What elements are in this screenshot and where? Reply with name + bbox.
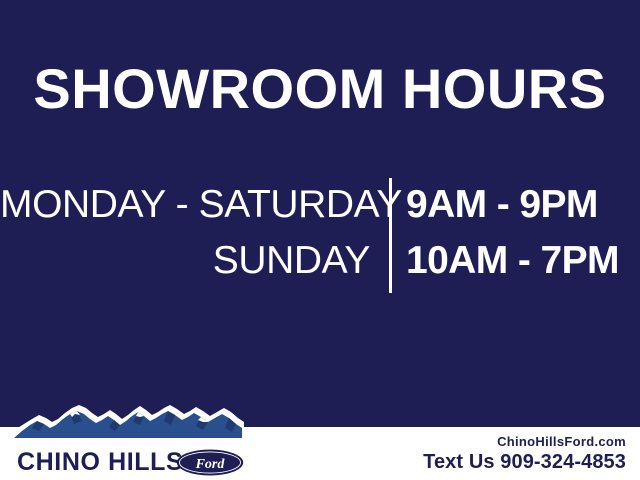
phone-text[interactable]: Text Us 909-324-4853 <box>423 450 626 474</box>
hours-row-time: 9AM - 9PM <box>406 182 638 228</box>
website-text[interactable]: ChinoHillsFord.com <box>423 433 626 450</box>
hours-row: MONDAY - SATURDAY 9AM - 9PM <box>0 182 640 238</box>
hours-row-days: SUNDAY <box>0 238 370 284</box>
hours-row-days: MONDAY - SATURDAY <box>0 182 370 228</box>
hours-table: MONDAY - SATURDAY 9AM - 9PM SUNDAY 10AM … <box>0 178 640 296</box>
page-title-text: SHOWROOM HOURS <box>33 58 606 120</box>
hours-row: SUNDAY 10AM - 7PM <box>0 238 640 294</box>
page-title: SHOWROOM HOURS <box>0 58 640 120</box>
ford-wordmark: Ford <box>195 457 226 472</box>
ford-oval-logo: Ford <box>176 449 244 476</box>
mountain-range-icon <box>6 402 244 438</box>
contact-block: ChinoHillsFord.com Text Us 909-324-4853 <box>423 433 626 474</box>
dealer-name: CHINO HILLS <box>17 448 183 476</box>
showroom-hours-sign: SHOWROOM HOURS MONDAY - SATURDAY 9AM - 9… <box>0 0 640 480</box>
hours-row-time: 10AM - 7PM <box>406 238 638 284</box>
